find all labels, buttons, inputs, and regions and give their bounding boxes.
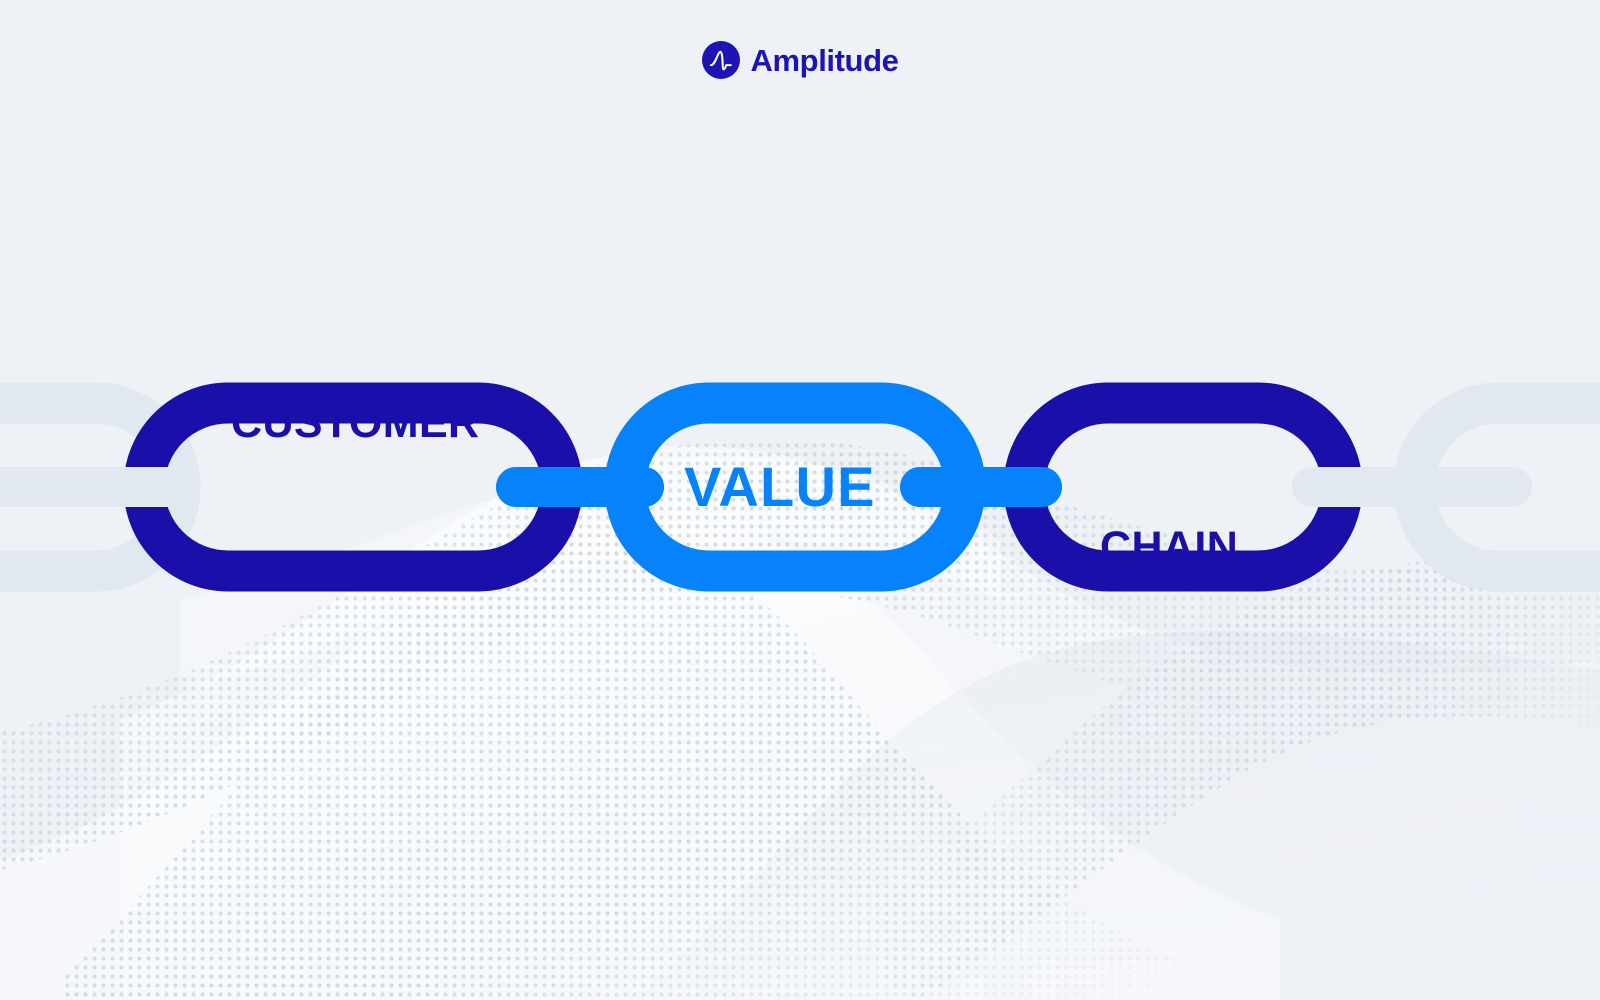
connector-3-overlay <box>900 467 1062 507</box>
connector-4-overlay <box>1292 467 1532 507</box>
connector-1-overlay <box>0 467 190 507</box>
amplitude-logo-icon <box>702 41 740 79</box>
page-header: Amplitude <box>0 0 1600 120</box>
link-label-chain: CHAIN <box>1100 526 1238 569</box>
connector-2-overlay <box>496 467 664 507</box>
link-label-customer: CUSTOMER <box>231 402 479 445</box>
link-label-value: VALUE <box>684 459 876 515</box>
chain-diagram: CUSTOMER VALUE CHAIN <box>0 0 1600 1000</box>
brand-logo: Amplitude <box>702 41 899 79</box>
brand-name: Amplitude <box>751 45 899 76</box>
